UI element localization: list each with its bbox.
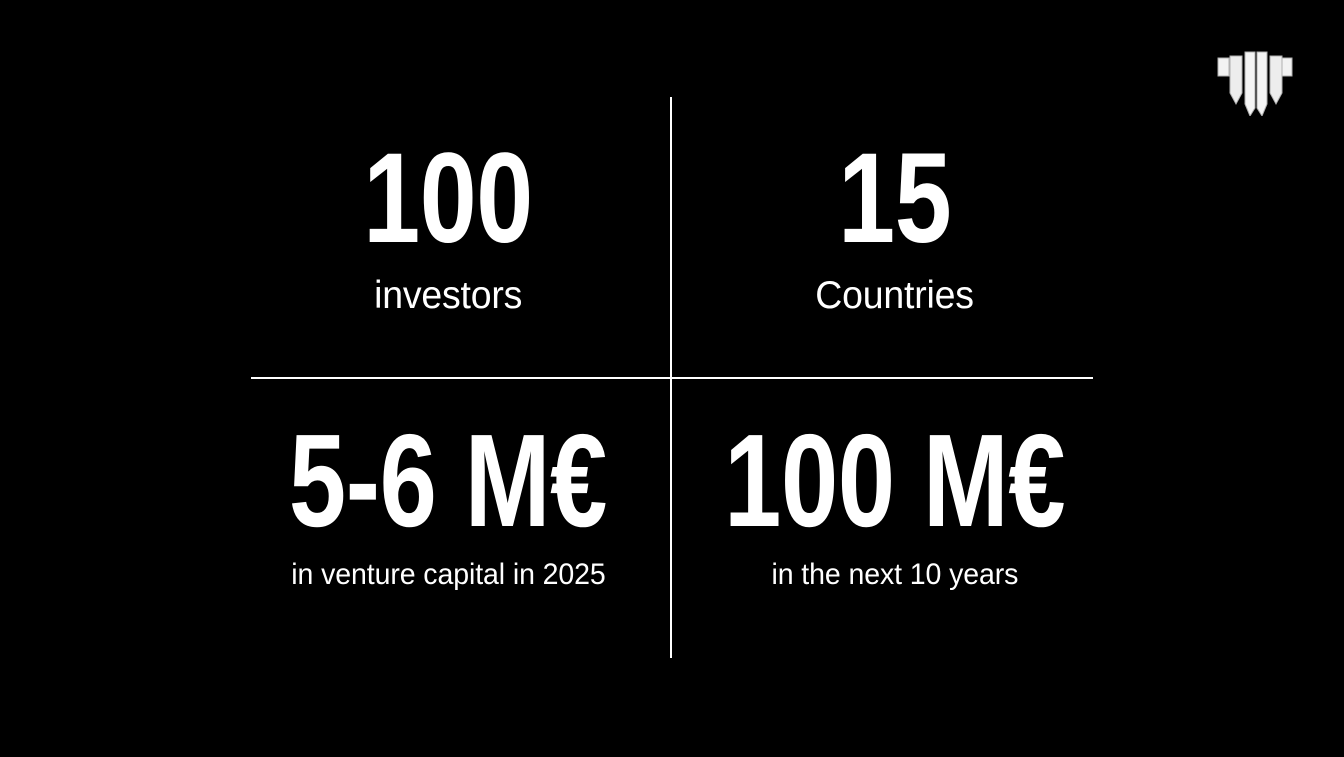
stat-venture-capital-label: in venture capital in 2025 (291, 558, 605, 591)
stat-ten-year-target-value: 100 M€ (724, 428, 1065, 534)
stat-ten-year-target-label: in the next 10 years (772, 558, 1019, 591)
stat-investors-label: investors (374, 275, 522, 318)
stats-slide: 100 investors 15 Countries 5-6 M€ in ven… (0, 0, 1344, 757)
stat-venture-capital: 5-6 M€ in venture capital in 2025 (225, 428, 671, 591)
stat-ten-year-target: 100 M€ in the next 10 years (672, 428, 1118, 591)
stat-countries: 15 Countries (672, 148, 1118, 318)
stat-venture-capital-value: 5-6 M€ (289, 428, 607, 534)
stat-investors-value: 100 (363, 148, 533, 250)
stats-grid: 100 investors 15 Countries 5-6 M€ in ven… (0, 0, 1344, 757)
stat-investors: 100 investors (225, 148, 671, 318)
stat-countries-value: 15 (838, 148, 951, 250)
stat-countries-label: Countries (816, 275, 975, 318)
